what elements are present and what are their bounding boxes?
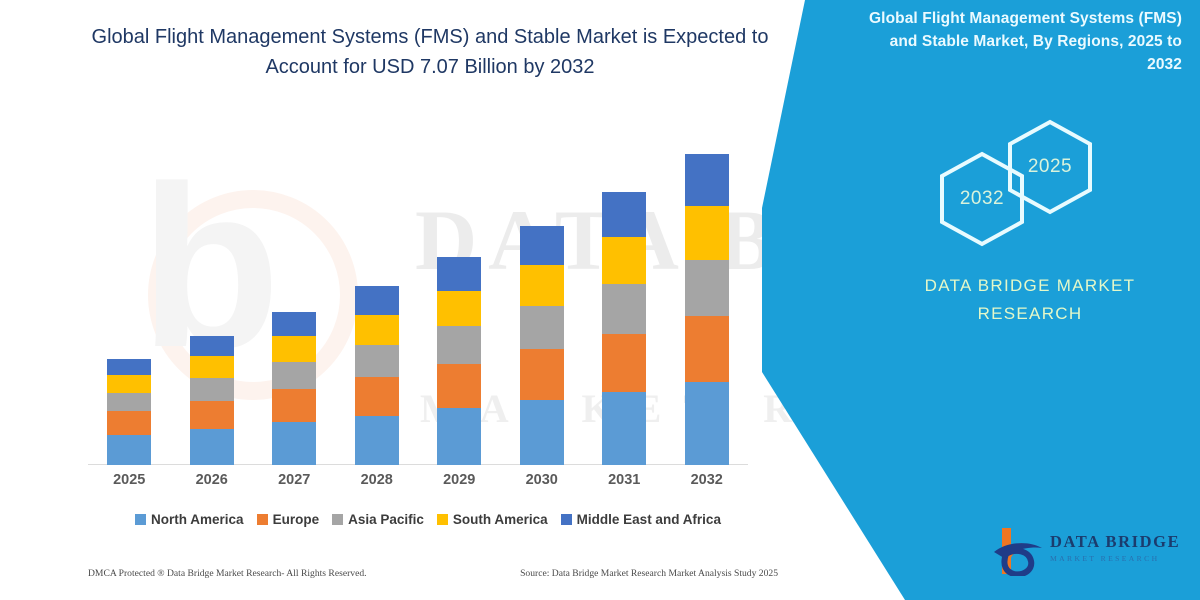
bar-segment (107, 359, 151, 375)
bar-segment (107, 375, 151, 393)
bar-segment (107, 411, 151, 434)
bar-column (669, 154, 745, 465)
bar-segment (437, 408, 481, 465)
bar-segment (190, 401, 234, 429)
bar-segment (685, 382, 729, 465)
bar-column (256, 312, 332, 465)
chart-legend: North AmericaEuropeAsia PacificSouth Ame… (88, 512, 768, 527)
bar-segment (272, 336, 316, 362)
x-axis-label: 2030 (504, 472, 580, 488)
panel-title: Global Flight Management Systems (FMS) a… (852, 8, 1182, 77)
x-axis-label: 2032 (669, 472, 745, 488)
bar-segment (437, 364, 481, 409)
bar-column (504, 226, 580, 465)
x-axis-label: 2025 (91, 472, 167, 488)
panel-brand-line1: DATA BRIDGE MARKET (880, 272, 1180, 300)
legend-swatch-icon (561, 514, 572, 525)
legend-item[interactable]: North America (135, 512, 244, 527)
legend-label: Middle East and Africa (577, 512, 721, 527)
legend-label: North America (151, 512, 244, 527)
bar-segment (602, 284, 646, 333)
bar-segment (602, 334, 646, 392)
hexagon-label-2032: 2032 (960, 188, 1004, 210)
bar-segment (437, 291, 481, 326)
bar-segment (355, 377, 399, 415)
bar-segment (602, 192, 646, 237)
bar-segment (272, 312, 316, 336)
bar-segment (190, 378, 234, 401)
legend-label: Asia Pacific (348, 512, 424, 527)
legend-label: South America (453, 512, 548, 527)
panel-brand-line2: RESEARCH (880, 300, 1180, 328)
bar-segment (355, 416, 399, 465)
bar-segment (190, 336, 234, 356)
footer-copyright: DMCA Protected ® Data Bridge Market Rese… (88, 568, 367, 579)
bar-segment (520, 400, 564, 465)
logo-line1: DATA BRIDGE (1050, 532, 1180, 552)
bar-segment (190, 429, 234, 465)
chart-plot-area (88, 140, 748, 465)
logo-text: DATA BRIDGE MARKET RESEARCH (1050, 532, 1180, 563)
bar-segment (685, 154, 729, 206)
x-axis-label: 2028 (339, 472, 415, 488)
legend-label: Europe (273, 512, 320, 527)
footer-source: Source: Data Bridge Market Research Mark… (520, 568, 778, 579)
bar-segment (685, 260, 729, 316)
bar-column (586, 192, 662, 465)
legend-item[interactable]: Europe (257, 512, 320, 527)
hexagon-label-2025: 2025 (1028, 156, 1072, 178)
bar-segment (107, 435, 151, 465)
bar-segment (520, 306, 564, 349)
legend-swatch-icon (135, 514, 146, 525)
logo-line2: MARKET RESEARCH (1050, 554, 1180, 563)
legend-item[interactable]: South America (437, 512, 548, 527)
bar-segment (520, 226, 564, 265)
data-bridge-logo-icon (992, 526, 1044, 576)
bar-segment (602, 237, 646, 284)
legend-swatch-icon (332, 514, 343, 525)
bar-column (339, 286, 415, 465)
x-axis-label: 2029 (421, 472, 497, 488)
bar-group (88, 140, 748, 465)
footer: DMCA Protected ® Data Bridge Market Rese… (88, 568, 778, 579)
bar-segment (190, 356, 234, 377)
bar-segment (355, 345, 399, 377)
bar-segment (272, 389, 316, 422)
bar-segment (437, 257, 481, 291)
legend-swatch-icon (257, 514, 268, 525)
bar-column (174, 336, 250, 465)
bar-segment (355, 286, 399, 315)
company-logo: DATA BRIDGE MARKET RESEARCH (992, 524, 1182, 580)
hexagon-badge-end-year: 2025 (1004, 118, 1096, 216)
bar-segment (107, 393, 151, 412)
bar-segment (355, 315, 399, 345)
panel-brand: DATA BRIDGE MARKET RESEARCH (880, 272, 1180, 328)
bar-segment (520, 349, 564, 400)
infographic-root: b DATA BRIDGE MARKET RESEARCH Global Fli… (0, 0, 1200, 600)
legend-swatch-icon (437, 514, 448, 525)
bar-column (421, 257, 497, 465)
x-axis-label: 2026 (174, 472, 250, 488)
bar-segment (437, 326, 481, 364)
bar-segment (685, 206, 729, 260)
bar-segment (602, 392, 646, 465)
bar-segment (272, 362, 316, 389)
legend-item[interactable]: Asia Pacific (332, 512, 424, 527)
bar-segment (685, 316, 729, 382)
bar-segment (272, 422, 316, 465)
x-axis-label: 2027 (256, 472, 332, 488)
x-axis-label: 2031 (586, 472, 662, 488)
x-axis-labels: 20252026202720282029203020312032 (88, 472, 748, 488)
chart-title: Global Flight Management Systems (FMS) a… (70, 22, 790, 82)
legend-item[interactable]: Middle East and Africa (561, 512, 721, 527)
bar-segment (520, 265, 564, 306)
bar-column (91, 359, 167, 465)
